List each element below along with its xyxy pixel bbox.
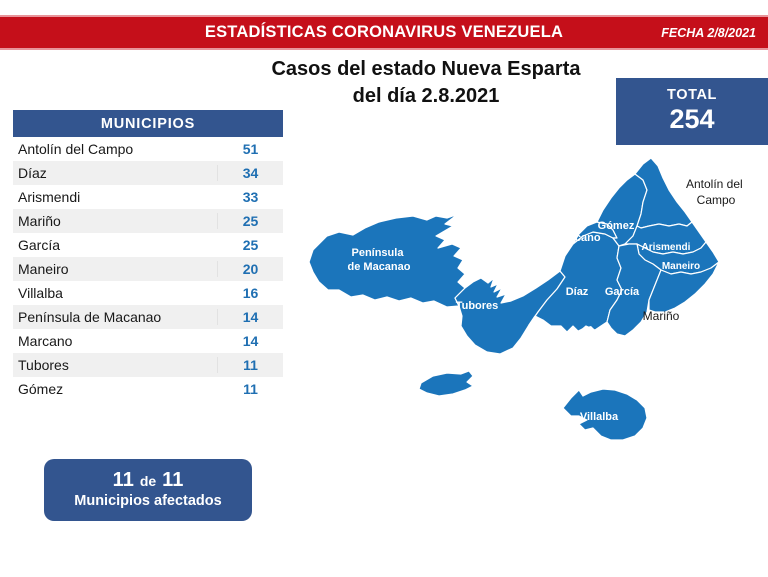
map-label-marino: Mariño [643,309,680,323]
table-cell-case-count: 20 [217,261,283,277]
header-date: FECHA 2/8/2021 [661,26,756,40]
table-cell-case-count: 14 [217,333,283,349]
table-cell-case-count: 34 [217,165,283,181]
affected-municipalities-badge: 11de11 Municipios afectados [44,459,252,521]
municipios-table: MUNICIPIOS Antolín del Campo51Díaz34Aris… [13,110,283,401]
table-row: Mariño25 [13,209,283,233]
affected-caption: Municipios afectados [74,493,221,510]
map-label-antolin-del-campo: Antolín del Campo [686,177,746,207]
table-cell-case-count: 25 [217,237,283,253]
table-cell-municipality-name: Marcano [13,333,217,349]
affected-connector: de [134,473,162,489]
table-cell-municipality-name: Mariño [13,213,217,229]
table-row: Antolín del Campo51 [13,137,283,161]
map-label-diaz: Díaz [566,286,589,298]
table-cell-municipality-name: Gómez [13,381,217,397]
page-title: Casos del estado Nueva Esparta del día 2… [236,56,616,109]
map-label-tubores: Tubores [456,300,499,312]
total-label: TOTAL [667,88,717,104]
table-row: Maneiro20 [13,257,283,281]
header-banner: ESTADÍSTICAS CORONAVIRUS VENEZUELA FECHA… [0,17,768,48]
table-cell-municipality-name: Península de Macanao [13,309,217,325]
map-label-garcia: García [605,286,640,298]
map-label-arismendi: Arismendi [642,242,691,253]
page-title-line1: Casos del estado Nueva Esparta [236,56,616,83]
table-row: Gómez11 [13,377,283,401]
table-cell-municipality-name: García [13,237,217,253]
table-cell-case-count: 25 [217,213,283,229]
nueva-esparta-map: Península de Macanao Tubores Díaz Gómez … [295,140,768,440]
map-label-villalba: Villalba [580,411,619,423]
affected-count-line: 11de11 [113,469,184,492]
table-cell-municipality-name: Arismendi [13,189,217,205]
page-title-line2: del día 2.8.2021 [236,83,616,110]
map-label-maneiro: Maneiro [662,261,700,272]
map-label-gomez: Gómez [598,220,635,232]
table-row: Marcano14 [13,329,283,353]
table-cell-case-count: 33 [217,189,283,205]
total-box: TOTAL 254 [616,78,768,145]
table-cell-municipality-name: Villalba [13,285,217,301]
table-cell-case-count: 14 [217,309,283,325]
table-cell-case-count: 11 [217,357,283,373]
table-body: Antolín del Campo51Díaz34Arismendi33Mari… [13,137,283,401]
table-cell-municipality-name: Díaz [13,165,217,181]
affected-total: 11 [162,469,183,491]
header-title: ESTADÍSTICAS CORONAVIRUS VENEZUELA [205,23,563,42]
table-header: MUNICIPIOS [13,110,283,137]
table-row: García25 [13,233,283,257]
table-row: Península de Macanao14 [13,305,283,329]
map-island-cubagua [419,371,473,396]
table-row: Díaz34 [13,161,283,185]
affected-count: 11 [113,469,134,491]
table-cell-municipality-name: Tubores [13,357,217,373]
table-cell-case-count: 11 [217,381,283,397]
table-row: Arismendi33 [13,185,283,209]
table-cell-case-count: 51 [217,141,283,157]
map-label-marcano: Marcano [555,232,601,244]
table-cell-municipality-name: Antolín del Campo [13,141,217,157]
table-row: Villalba16 [13,281,283,305]
total-value: 254 [669,105,714,135]
table-cell-case-count: 16 [217,285,283,301]
table-cell-municipality-name: Maneiro [13,261,217,277]
table-row: Tubores11 [13,353,283,377]
